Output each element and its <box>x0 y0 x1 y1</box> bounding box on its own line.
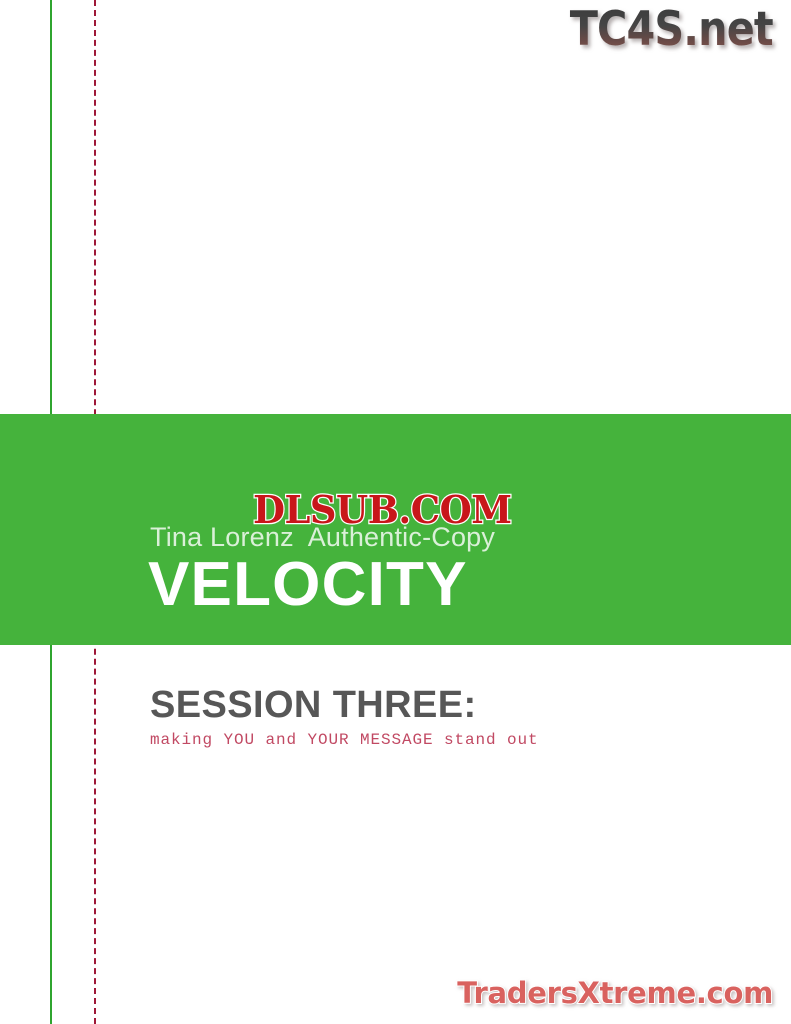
watermark-tc4s: TC4S.net <box>570 2 773 57</box>
document-page: Tina Lorenz Authentic-Copy VELOCITY SESS… <box>0 0 791 1024</box>
session-heading: SESSION THREE: <box>150 684 477 727</box>
watermark-dlsub: DLSUB.COM <box>253 487 512 532</box>
program-title: VELOCITY <box>148 554 468 616</box>
watermark-tradersxtreme: TradersXtreme.com <box>457 976 773 1010</box>
session-subtitle: making YOU and YOUR MESSAGE stand out <box>150 731 539 749</box>
